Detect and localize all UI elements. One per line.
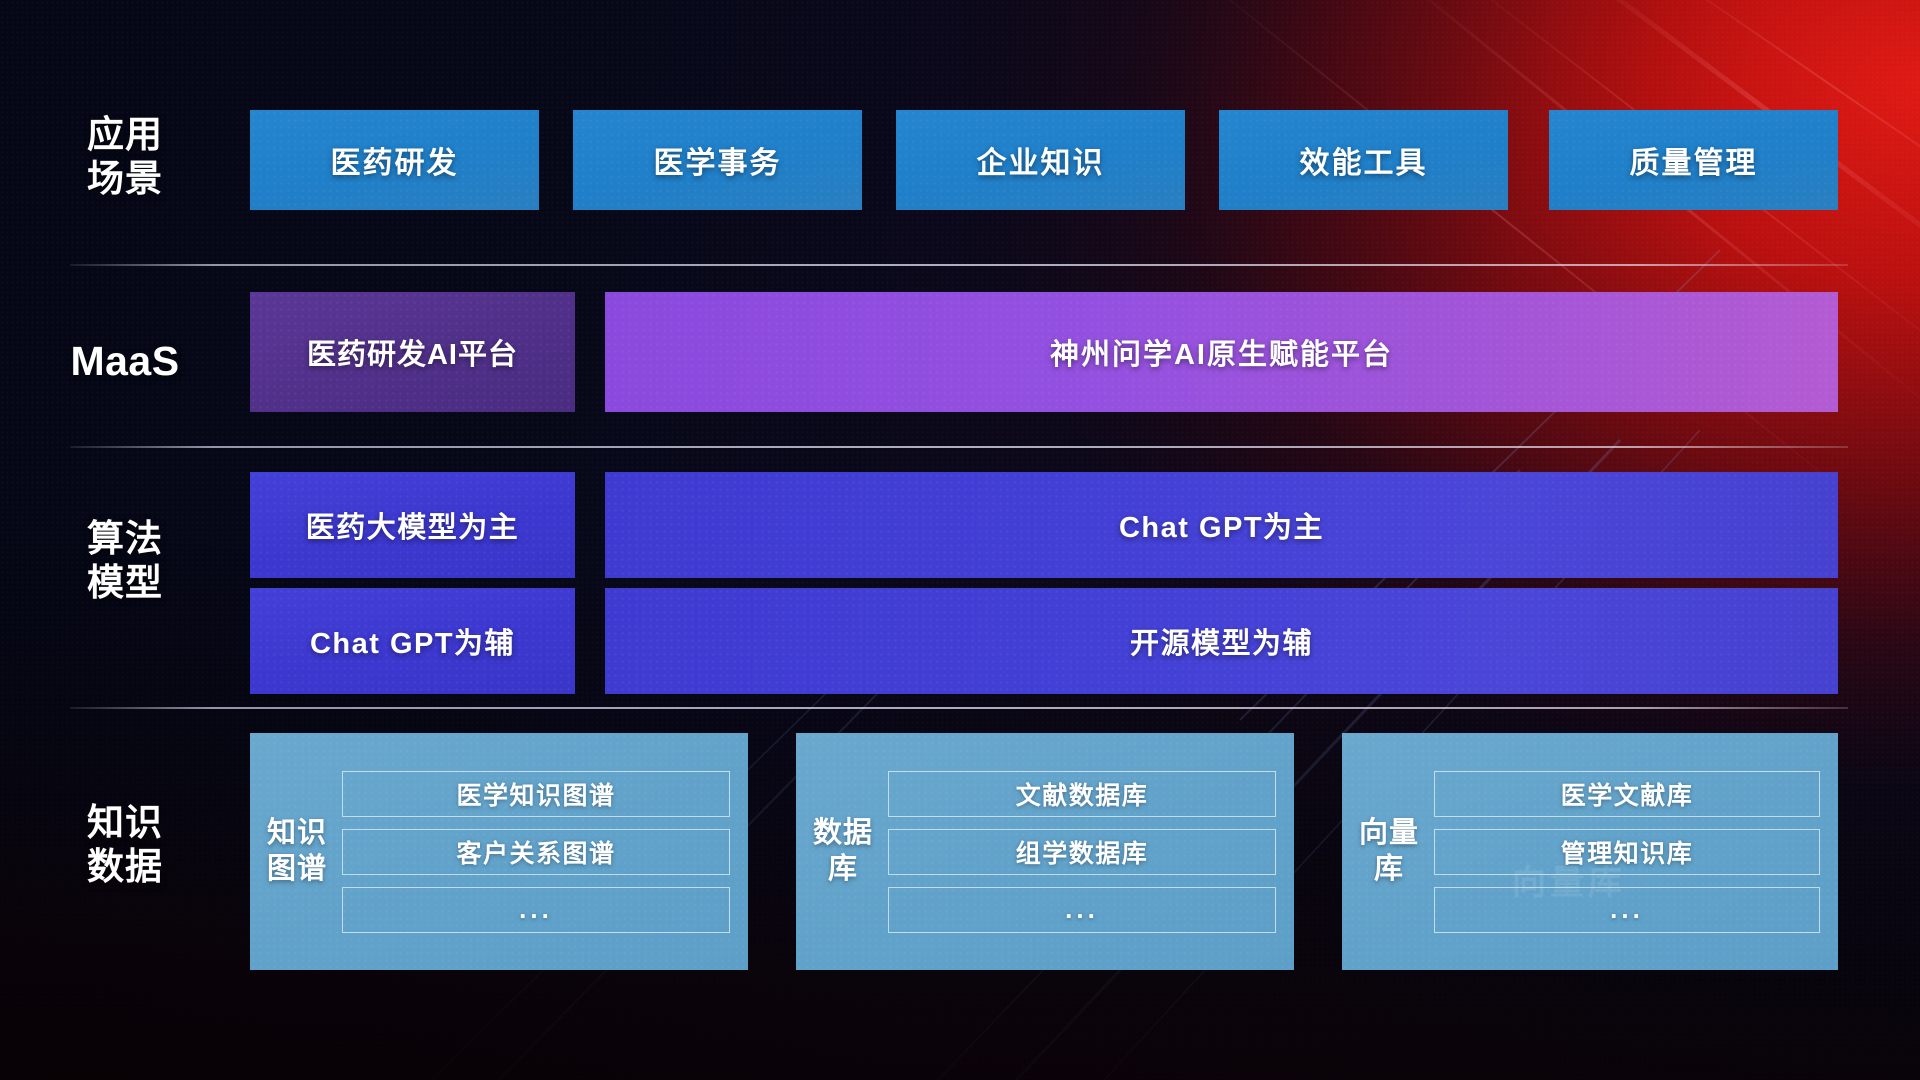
vector-item-3[interactable]: ... xyxy=(1434,887,1820,933)
knowledge-card-vector-label: 向量库 xyxy=(1356,816,1422,887)
vector-item-2[interactable]: 管理知识库 xyxy=(1434,829,1820,875)
scenario-label-3: 企业知识 xyxy=(977,138,1105,182)
knowledge-graph-item-3[interactable]: ... xyxy=(342,887,730,933)
knowledge-card-graph-label: 知识图谱 xyxy=(264,816,330,887)
row-label-maas: MaaS xyxy=(40,337,210,385)
knowledge-card-graph[interactable]: 知识图谱 医学知识图谱 客户关系图谱 ... xyxy=(250,733,748,970)
knowledge-card-database-items: 文献数据库 组学数据库 ... xyxy=(888,771,1276,933)
algorithm-left-box-2[interactable]: Chat GPT为辅 xyxy=(250,588,575,694)
scenario-box-2[interactable]: 医学事务 xyxy=(573,110,862,210)
scenario-label-1: 医药研发 xyxy=(331,138,459,182)
divider-maas-algorithm xyxy=(70,446,1848,448)
knowledge-card-graph-items: 医学知识图谱 客户关系图谱 ... xyxy=(342,771,730,933)
scenario-box-4[interactable]: 效能工具 xyxy=(1219,110,1508,210)
diagram-content: 应用 场景 医药研发 医学事务 企业知识 效能工具 质量管理 MaaS 医药研发… xyxy=(0,0,1920,1080)
knowledge-card-vector-items: 医学文献库 管理知识库 ... xyxy=(1434,771,1820,933)
scenario-box-3[interactable]: 企业知识 xyxy=(896,110,1185,210)
row-label-algorithm: 算法 模型 xyxy=(40,517,210,604)
maas-main-label: 神州问学AI原生赋能平台 xyxy=(1050,331,1393,373)
knowledge-graph-item-2[interactable]: 客户关系图谱 xyxy=(342,829,730,875)
row-label-knowledge: 知识 数据 xyxy=(40,801,210,888)
scenario-label-5: 质量管理 xyxy=(1630,138,1758,182)
database-item-2[interactable]: 组学数据库 xyxy=(888,829,1276,875)
maas-left-box[interactable]: 医药研发AI平台 xyxy=(250,292,575,412)
scenario-label-2: 医学事务 xyxy=(654,138,782,182)
divider-algorithm-knowledge xyxy=(70,707,1848,709)
algorithm-left-label-2: Chat GPT为辅 xyxy=(310,620,515,662)
algorithm-left-label-1: 医药大模型为主 xyxy=(306,504,520,546)
row-label-application: 应用 场景 xyxy=(40,113,210,200)
architecture-slide: 应用 场景 医药研发 医学事务 企业知识 效能工具 质量管理 MaaS 医药研发… xyxy=(0,0,1920,1080)
algorithm-right-box-1[interactable]: Chat GPT为主 xyxy=(605,472,1838,578)
algorithm-right-label-2: 开源模型为辅 xyxy=(1130,620,1313,662)
database-item-1[interactable]: 文献数据库 xyxy=(888,771,1276,817)
algorithm-right-box-2[interactable]: 开源模型为辅 xyxy=(605,588,1838,694)
maas-main-box[interactable]: 神州问学AI原生赋能平台 xyxy=(605,292,1838,412)
knowledge-card-vector[interactable]: 向量库 向量库 医学文献库 管理知识库 ... xyxy=(1342,733,1838,970)
scenario-box-5[interactable]: 质量管理 xyxy=(1549,110,1838,210)
knowledge-card-database[interactable]: 数据库 文献数据库 组学数据库 ... xyxy=(796,733,1294,970)
scenario-label-4: 效能工具 xyxy=(1300,138,1428,182)
knowledge-graph-item-1[interactable]: 医学知识图谱 xyxy=(342,771,730,817)
algorithm-left-box-1[interactable]: 医药大模型为主 xyxy=(250,472,575,578)
maas-left-label: 医药研发AI平台 xyxy=(307,331,518,373)
vector-item-1[interactable]: 医学文献库 xyxy=(1434,771,1820,817)
divider-application-maas xyxy=(70,264,1848,266)
algorithm-right-label-1: Chat GPT为主 xyxy=(1119,504,1324,546)
database-item-3[interactable]: ... xyxy=(888,887,1276,933)
scenario-box-1[interactable]: 医药研发 xyxy=(250,110,539,210)
knowledge-card-database-label: 数据库 xyxy=(810,816,876,887)
